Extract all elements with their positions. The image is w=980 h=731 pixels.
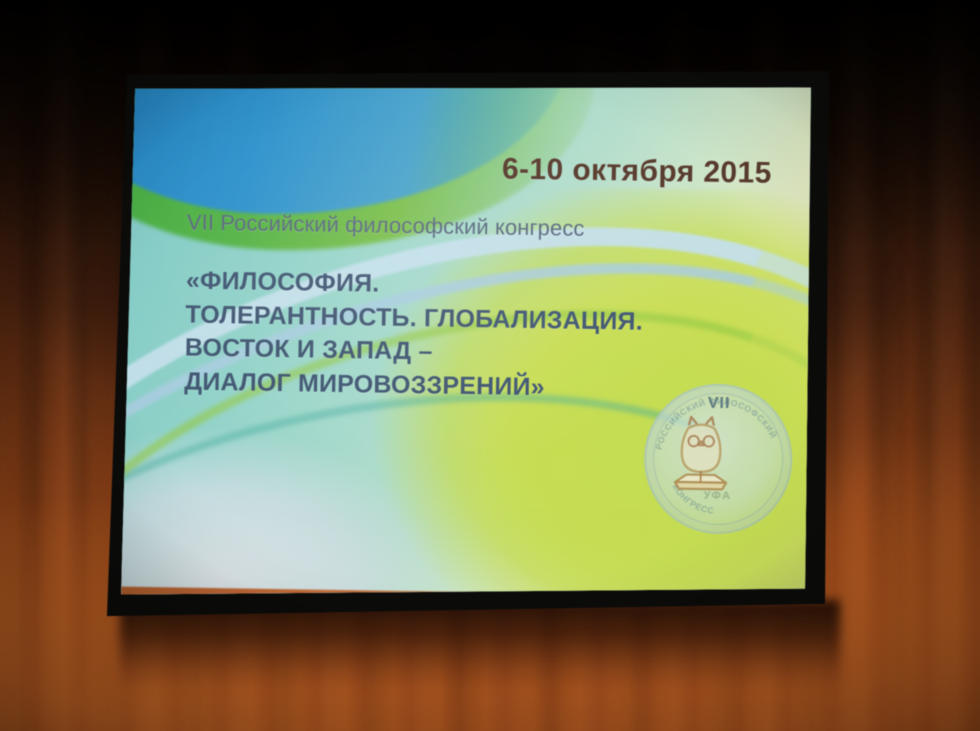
slide-congress-subtitle: VII Российский философский конгресс (187, 210, 585, 242)
slide-title: «ФИЛОСОФИЯ. ТОЛЕРАНТНОСТЬ. ГЛОБАЛИЗАЦИЯ.… (184, 265, 644, 406)
slide-date: 6-10 октября 2015 (128, 147, 772, 191)
slide-title-line-4: ДИАЛОГ МИРОВОЗЗРЕНИЙ» (184, 365, 642, 406)
slide-canvas: РОССИЙСКИЙ ФИЛОСОФСКИЙ КОНГРЕСС VII (121, 77, 815, 607)
projection-screen: РОССИЙСКИЙ ФИЛОСОФСКИЙ КОНГРЕСС VII (100, 56, 837, 629)
slide-text-layer: 6-10 октября 2015 VII Российский философ… (121, 77, 815, 607)
auditorium-photo: РОССИЙСКИЙ ФИЛОСОФСКИЙ КОНГРЕСС VII (0, 0, 980, 731)
